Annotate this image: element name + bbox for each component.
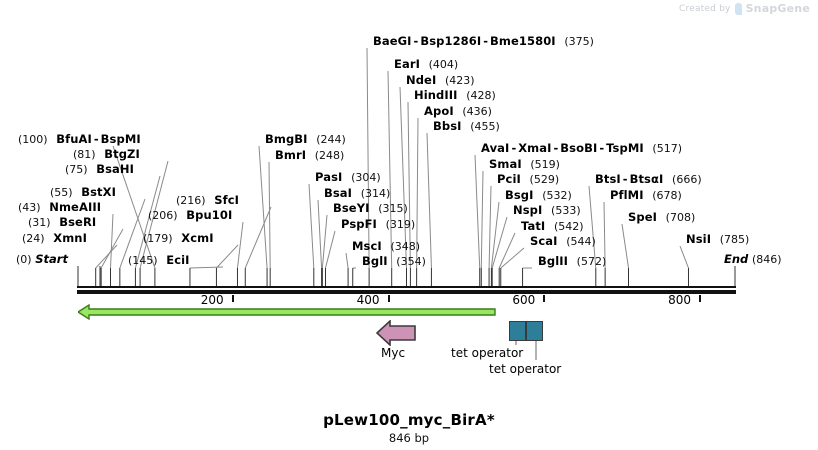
page-title: pLew100_myc_BirA* [0,411,818,429]
enzyme-name: BglII [538,254,568,268]
name-separator: - [92,132,101,146]
enzyme-name: SmaI [489,157,522,171]
enzyme-name: BsaHI [96,162,134,176]
enzyme-label-nmeaiii[interactable]: (43) NmeAIII [18,201,101,214]
enzyme-label-bgli[interactable]: BglI (354) [362,255,426,268]
enzyme-position: (248) [315,149,345,162]
enzyme-label-pcii[interactable]: PciI (529) [497,173,559,186]
enzyme-name: BmrI [275,148,306,162]
enzyme-label-xmni[interactable]: (24) XmnI [22,232,87,245]
enzyme-label-pflmi[interactable]: PflMI (678) [610,189,682,202]
enzyme-name: PasI [315,170,342,184]
tet-operator-label-2: tet operator [489,362,561,376]
enzyme-label-msci[interactable]: MscI (348) [352,240,420,253]
enzyme-name: BstXI [81,185,116,199]
enzyme-position: (179) [143,232,173,245]
enzyme-position: (529) [530,173,560,186]
enzyme-label-ecii[interactable]: (145) EciI [128,254,190,267]
enzyme-label-baegi[interactable]: BaeGI-Bsp1286I-Bme1580I (375) [373,35,594,48]
enzyme-name: TspMI [606,141,644,155]
enzyme-label-eari[interactable]: EarI (404) [394,58,458,71]
name-separator: - [481,34,490,48]
enzyme-label-bmri[interactable]: BmrI (248) [275,149,344,162]
ruler-tick [543,295,545,302]
plasmid-length: 846 bp [0,431,818,445]
enzyme-name: NsiI [686,232,711,246]
enzyme-position: (666) [672,173,702,186]
enzyme-position: (455) [470,120,500,133]
enzyme-label-hindiii[interactable]: HindIII (428) [414,89,496,102]
enzyme-position: (544) [566,235,596,248]
enzyme-name: NmeAIII [49,200,101,214]
enzyme-position: (314) [361,187,391,200]
enzyme-name: SpeI [628,210,657,224]
enzyme-name: EciI [166,253,189,267]
enzyme-name: BbsI [433,119,462,133]
enzyme-name: EarI [394,57,420,71]
enzyme-label-smai[interactable]: SmaI (519) [489,158,560,171]
enzyme-name: BaeGI [373,34,412,48]
enzyme-label-bmgbi[interactable]: BmgBI (244) [265,133,346,146]
tet-operator-box-1[interactable] [509,321,526,341]
tet-operator-label-1: tet operator [451,346,523,360]
enzyme-name: BtsI [595,172,621,186]
enzyme-position: (348) [390,240,420,253]
enzyme-name: BseYI [333,201,370,215]
name-separator: - [509,141,518,155]
enzyme-position: (423) [445,74,475,87]
enzyme-label-apoi[interactable]: ApoI (436) [424,105,492,118]
end-marker-position: (846) [752,253,782,266]
enzyme-name: PflMI [610,188,644,202]
ruler-tick-label-600: 600 [512,293,535,307]
enzyme-label-spei[interactable]: SpeI (708) [628,211,695,224]
enzyme-label-avai[interactable]: AvaI-XmaI-BsoBI-TspMI (517) [481,142,682,155]
enzyme-label-bpu10i[interactable]: (206) Bpu10I [148,209,232,222]
ruler-tick-label-800: 800 [668,293,691,307]
enzyme-position: (43) [18,201,41,214]
enzyme-name: XmaI [518,141,551,155]
enzyme-name: AvaI [481,141,509,155]
enzyme-name: XmnI [53,231,87,245]
enzyme-name: Bpu10I [186,208,232,222]
enzyme-label-nsii[interactable]: NsiI (785) [686,233,749,246]
enzyme-name: SfcI [214,193,239,207]
ruler-thick-line [77,290,736,294]
enzyme-name: BtsαI [630,172,664,186]
enzyme-position: (100) [18,133,48,146]
orf-arrow[interactable] [78,303,496,323]
enzyme-name: BseRI [59,215,96,229]
enzyme-position: (145) [128,254,158,267]
plasmid-map-canvas: Created by SnapGene (100) BfuAI-BspMI(81… [0,0,818,450]
enzyme-name: BtgZI [104,147,140,161]
enzyme-name: ApoI [424,104,454,118]
enzyme-name: PspFI [341,217,377,231]
ruler-tick [699,295,701,302]
enzyme-label-bseyi[interactable]: BseYI (315) [333,202,408,215]
ruler-tick [232,295,234,302]
enzyme-label-bsahi[interactable]: (75) BsaHI [65,163,134,176]
enzyme-name: NdeI [406,73,436,87]
enzyme-label-tati[interactable]: TatI (542) [521,220,584,233]
enzyme-name: ScaI [530,234,558,248]
myc-feature-arrow[interactable] [376,320,418,346]
name-separator: - [412,34,421,48]
enzyme-label-btgzi[interactable]: (81) BtgZI [73,148,140,161]
enzyme-name: BsoBI [560,141,597,155]
start-marker-position: (0) [16,253,32,266]
name-separator: - [552,141,561,155]
enzyme-name: NspI [513,203,542,217]
enzyme-label-bfuai[interactable]: (100) BfuAI-BspMI [18,133,141,146]
enzyme-label-scai[interactable]: ScaI (544) [530,235,596,248]
enzyme-position: (785) [720,233,750,246]
enzyme-position: (532) [542,189,572,202]
enzyme-position: (244) [316,133,346,146]
enzyme-position: (542) [554,220,584,233]
enzyme-position: (517) [652,142,682,155]
ruler-thin-line [77,286,736,288]
enzyme-name: HindIII [414,88,458,102]
start-marker-text: Start [35,252,68,266]
enzyme-position: (216) [176,194,206,207]
enzyme-position: (572) [577,255,607,268]
enzyme-label-bsgi[interactable]: BsgI (532) [505,189,572,202]
enzyme-label-bsai[interactable]: BsaI (314) [324,187,390,200]
enzyme-name: Bme1580I [490,34,556,48]
enzyme-position: (315) [378,202,408,215]
end-marker[interactable]: End (846) [724,253,782,266]
enzyme-name: XcmI [181,231,213,245]
enzyme-position: (81) [73,148,96,161]
enzyme-label-ndei[interactable]: NdeI (423) [406,74,475,87]
enzyme-position: (404) [429,58,459,71]
tet-operator-box-2[interactable] [526,321,543,341]
enzyme-name: BglI [362,254,388,268]
enzyme-position: (319) [386,218,416,231]
enzyme-name: MscI [352,239,382,253]
enzyme-name: PciI [497,172,521,186]
start-marker[interactable]: (0) Start [16,253,68,266]
enzyme-name: BfuAI [56,132,92,146]
enzyme-name: Bsp1286I [420,34,481,48]
enzyme-label-bseri[interactable]: (31) BseRI [28,216,96,229]
enzyme-label-nspi[interactable]: NspI (533) [513,204,581,217]
enzyme-label-xcmi[interactable]: (179) XcmI [143,232,214,245]
enzyme-position: (533) [551,204,581,217]
enzyme-label-bbsi[interactable]: BbsI (455) [433,120,500,133]
enzyme-label-btsi[interactable]: BtsI-BtsαI (666) [595,173,702,186]
enzyme-position: (31) [28,216,51,229]
enzyme-position: (24) [22,232,45,245]
enzyme-label-sfci[interactable]: (216) SfcI [176,194,239,207]
enzyme-name: BsgI [505,188,534,202]
enzyme-position: (206) [148,209,178,222]
enzyme-label-bstxi[interactable]: (55) BstXI [50,186,116,199]
ruler-tick [388,295,390,302]
enzyme-name: BmgBI [265,132,308,146]
enzyme-name: BsaI [324,186,352,200]
enzyme-position: (75) [65,163,88,176]
enzyme-label-bglii[interactable]: BglII (572) [538,255,606,268]
enzyme-position: (55) [50,186,73,199]
name-separator: - [597,141,606,155]
enzyme-position: (354) [396,255,426,268]
enzyme-position: (304) [351,171,381,184]
myc-feature-label: Myc [381,346,405,360]
enzyme-position: (708) [666,211,696,224]
enzyme-position: (436) [462,105,492,118]
end-marker-text: End [724,252,748,266]
enzyme-position: (519) [530,158,560,171]
name-separator: - [621,172,630,186]
enzyme-name: BspMI [101,132,141,146]
enzyme-label-pasi[interactable]: PasI (304) [315,171,381,184]
enzyme-position: (375) [564,35,594,48]
enzyme-position: (678) [652,189,682,202]
enzyme-position: (428) [466,89,496,102]
enzyme-name: TatI [521,219,545,233]
enzyme-label-pspfi[interactable]: PspFI (319) [341,218,415,231]
